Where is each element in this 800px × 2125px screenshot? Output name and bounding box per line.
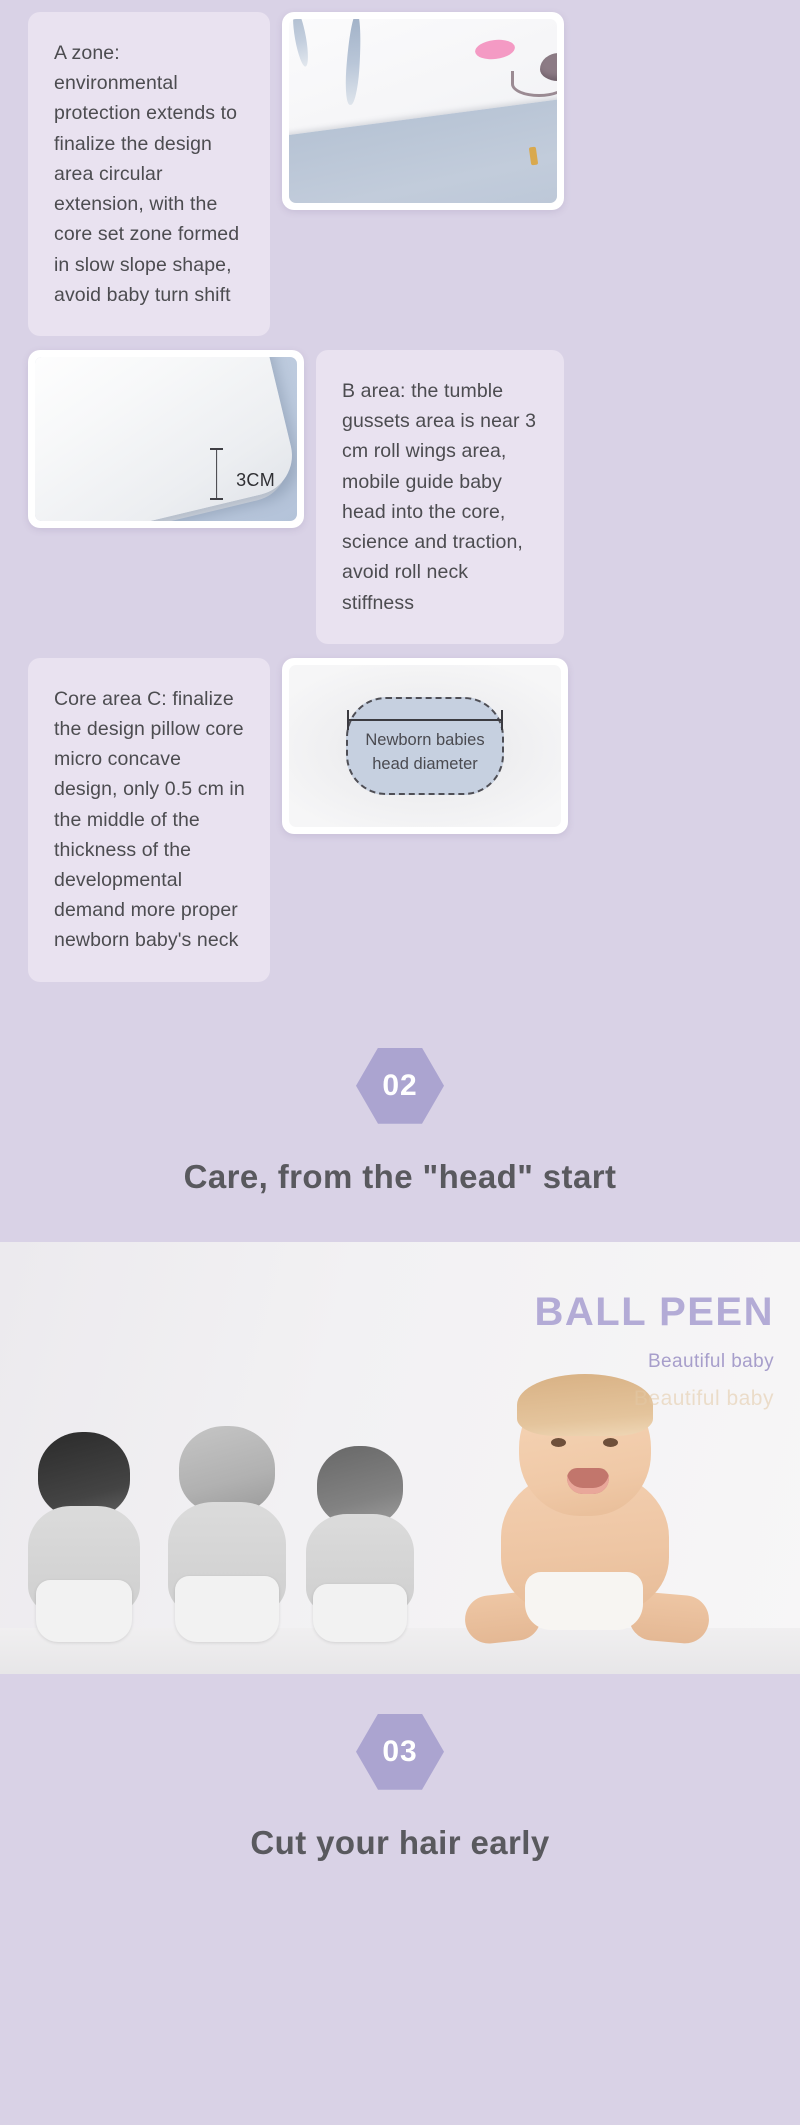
baby-4-eye-left (551, 1438, 566, 1447)
zone-c-text-card: Core area C: finalize the design pillow … (28, 658, 270, 982)
pillow-edge-photo-card: 3CM (28, 350, 304, 528)
banner-copy-block: BALL PEEN Beautiful baby Beautiful baby (535, 1290, 774, 1411)
pillow-ear-left-icon (290, 19, 311, 68)
feature-grid-section: A zone: environmental protection extends… (0, 0, 800, 1014)
head-outline-wrap: Newborn babies head diameter (346, 697, 504, 795)
thickness-dimension-label: 3CM (236, 470, 275, 491)
chapter-02-hexagon-badge: 02 (356, 1048, 444, 1124)
banner-title: BALL PEEN (535, 1290, 774, 1335)
baby-front-view-color (455, 1376, 717, 1648)
babies-photo-group (0, 1374, 800, 1674)
chapter-03-hexagon-badge: 03 (356, 1714, 444, 1790)
banner-subtitle: Beautiful baby (535, 1351, 774, 1373)
pillow-face-photo-card (282, 12, 564, 210)
chapter-02-title: Care, from the "head" start (0, 1158, 800, 1196)
pillow-mouth-icon (511, 71, 557, 97)
banner-ghost-text: Beautiful baby (535, 1387, 774, 1411)
baby-2-head (179, 1426, 275, 1514)
head-diameter-diagram-card: Newborn babies head diameter (282, 658, 568, 834)
pillow-ear-right-icon (344, 19, 363, 105)
head-diameter-caption-line2: head diameter (346, 753, 504, 777)
feature-row-c: Core area C: finalize the design pillow … (28, 658, 772, 982)
ball-peen-banner-section: BALL PEEN Beautiful baby Beautiful baby (0, 1242, 800, 1674)
baby-back-view-1 (22, 1432, 146, 1642)
head-diameter-image: Newborn babies head diameter (289, 665, 561, 827)
chapter-03-number: 03 (382, 1735, 417, 1769)
chapter-03-title: Cut your hair early (0, 1824, 800, 1862)
baby-back-view-2 (162, 1426, 292, 1642)
dimension-bar (216, 449, 218, 499)
baby-4-diaper (525, 1572, 643, 1630)
head-diameter-measure-line (348, 719, 502, 721)
pillow-edge-image: 3CM (35, 357, 297, 521)
chapter-02-section: 02 Care, from the "head" start (0, 1014, 800, 1242)
head-diameter-caption: Newborn babies head diameter (346, 729, 504, 777)
feature-row-b: 3CM B area: the tumble gussets area is n… (28, 350, 772, 644)
pillow-face-image (289, 19, 557, 203)
pillow-body-shape (289, 93, 557, 203)
head-diameter-caption-line1: Newborn babies (346, 729, 504, 753)
dimension-cap-bottom (210, 498, 223, 500)
baby-4-eye-right (603, 1438, 618, 1447)
chapter-02-number: 02 (382, 1069, 417, 1103)
zone-a-text-card: A zone: environmental protection extends… (28, 12, 270, 336)
baby-2-diaper (175, 1576, 279, 1642)
feature-row-a: A zone: environmental protection extends… (28, 12, 772, 336)
baby-back-view-3 (300, 1446, 420, 1642)
pillow-cheek-icon (474, 38, 516, 62)
baby-4-mouth (567, 1468, 609, 1494)
chapter-03-section: 03 Cut your hair early (0, 1674, 800, 1914)
baby-3-diaper (313, 1584, 407, 1642)
thickness-dimension-marker (210, 443, 223, 505)
baby-1-diaper (36, 1580, 132, 1642)
zone-b-text-card: B area: the tumble gussets area is near … (316, 350, 564, 644)
